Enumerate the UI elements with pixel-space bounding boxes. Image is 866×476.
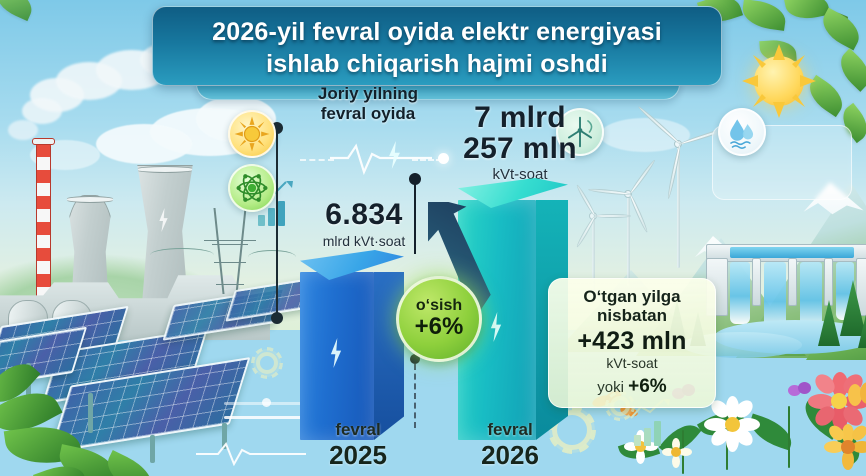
axis-label-2025-year: 2025 <box>298 440 418 471</box>
axis-label-2026-year: 2026 <box>450 440 570 471</box>
sun-icon <box>228 110 276 158</box>
gear-icon <box>256 352 278 374</box>
growth-badge-value: +6% <box>415 313 464 341</box>
infographic-canvas: 2026-yil fevral oyida elektr energiyasi … <box>0 0 866 476</box>
page-title-line-2: ishlab chiqarish hajmi oshdi <box>153 50 721 79</box>
hydroelectric-dam <box>706 228 866 358</box>
bar-side-face <box>374 272 404 440</box>
atom-icon <box>228 164 276 212</box>
sun-icon <box>742 44 816 118</box>
bar-chart-icon <box>634 420 661 446</box>
comparison-card-prefix: yoki <box>597 379 624 396</box>
bar-unit-2025: mlrd kVt·soat <box>294 233 434 249</box>
comparison-card-percent: +6% <box>628 376 667 397</box>
vertical-connector-line <box>276 128 278 318</box>
bar-value-2025: 6.834 <box>294 198 434 232</box>
comparison-card: O‘tgan yilga nisbatan +423 mln kVt-soat … <box>548 278 716 408</box>
page-title-line-1: 2026-yil fevral oyida elektr energiyasi <box>153 18 721 47</box>
axis-label-2026: fevral 2026 <box>450 420 570 471</box>
comparison-card-line-2: nisbatan <box>559 306 705 325</box>
comparison-card-line-1: O‘tgan yilga <box>559 287 705 306</box>
bar-front-face <box>300 272 374 440</box>
baseline-dashed-line <box>414 364 416 428</box>
comparison-card-value: +423 mln <box>559 327 705 356</box>
water-drop-icon <box>718 108 766 156</box>
lightning-bolt-icon <box>488 312 504 342</box>
lightning-bolt-icon <box>328 338 344 368</box>
title-banner: 2026-yil fevral oyida elektr energiyasi … <box>152 6 722 86</box>
comparison-card-percent-row: yoki +6% <box>559 376 705 398</box>
bar-2025[interactable] <box>300 250 412 440</box>
axis-label-2025-month: fevral <box>298 420 418 440</box>
comparison-card-unit: kVt-soat <box>559 355 705 371</box>
growth-badge[interactable]: o‘sish +6% <box>396 276 482 362</box>
bar-chart: o‘sish +6% 6.834 mlrd kVt·soat fevral 20… <box>280 80 580 476</box>
bar-value-label-2025: 6.834 mlrd kVt·soat <box>294 198 434 249</box>
axis-label-2026-month: fevral <box>450 420 570 440</box>
axis-label-2025: fevral 2025 <box>298 420 418 471</box>
